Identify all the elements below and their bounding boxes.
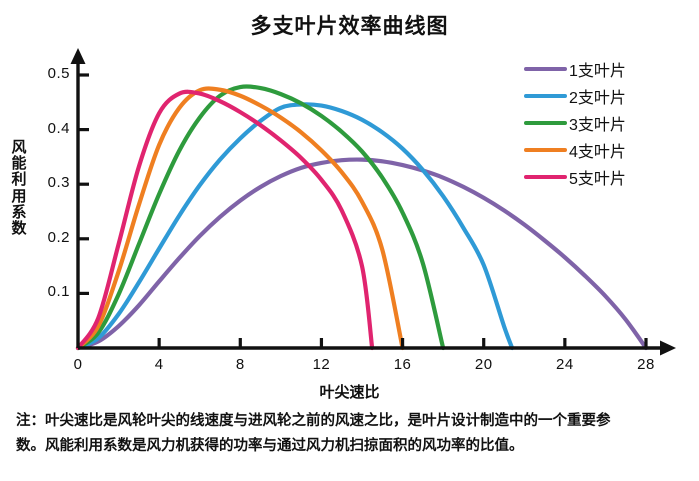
x-tick-label: 28 bbox=[631, 356, 661, 373]
y-tick-label: 0.4 bbox=[26, 120, 70, 137]
y-axis-title-char: 数 bbox=[8, 221, 30, 237]
footnote-line-1: 注：叶尖速比是风轮叶尖的线速度与进风轮之前的风速之比，是叶片设计制造中的一个重要… bbox=[16, 409, 688, 434]
footnote-line-2: 数。风能利用系数是风力机获得的功率与通过风力机扫掠面积的风功率的比值。 bbox=[16, 434, 688, 459]
y-tick-label: 0.3 bbox=[26, 174, 70, 191]
y-tick-label: 0.5 bbox=[26, 65, 70, 82]
legend-swatch-icon bbox=[524, 121, 567, 125]
legend-label: 5支叶片 bbox=[569, 165, 626, 189]
y-axis-title-char: 能 bbox=[8, 156, 30, 172]
legend-swatch-icon bbox=[524, 148, 567, 152]
x-tick-label: 12 bbox=[306, 356, 336, 373]
legend-item-1支叶片[interactable]: 1支叶片 bbox=[524, 55, 626, 82]
x-tick-label: 0 bbox=[63, 356, 93, 373]
legend-label: 2支叶片 bbox=[569, 84, 626, 108]
legend-swatch-icon bbox=[524, 175, 567, 179]
chart-page: 多支叶片效率曲线图 0.10.20.30.40.5 0481216202428 … bbox=[0, 0, 699, 481]
footnote: 注：叶尖速比是风轮叶尖的线速度与进风轮之前的风速之比，是叶片设计制造中的一个重要… bbox=[16, 409, 688, 460]
legend-item-5支叶片[interactable]: 5支叶片 bbox=[524, 163, 626, 190]
x-axis-title: 叶尖速比 bbox=[0, 381, 699, 402]
x-tick-label: 8 bbox=[225, 356, 255, 373]
legend-swatch-icon bbox=[524, 67, 567, 71]
y-axis-title-char: 系 bbox=[8, 205, 30, 221]
legend-item-2支叶片[interactable]: 2支叶片 bbox=[524, 82, 626, 109]
legend-label: 3支叶片 bbox=[569, 111, 626, 135]
y-axis-title-char: 用 bbox=[8, 189, 30, 205]
legend-label: 4支叶片 bbox=[569, 138, 626, 162]
legend-label: 1支叶片 bbox=[569, 57, 626, 81]
y-axis-title-char: 利 bbox=[8, 172, 30, 188]
x-tick-label: 20 bbox=[469, 356, 499, 373]
legend: 1支叶片2支叶片3支叶片4支叶片5支叶片 bbox=[524, 55, 626, 190]
curve-2支叶片 bbox=[78, 104, 512, 348]
x-tick-label: 24 bbox=[550, 356, 580, 373]
y-tick-label: 0.2 bbox=[26, 229, 70, 246]
x-tick-label: 16 bbox=[388, 356, 418, 373]
y-tick-label: 0.1 bbox=[26, 283, 70, 300]
legend-item-3支叶片[interactable]: 3支叶片 bbox=[524, 109, 626, 136]
legend-swatch-icon bbox=[524, 94, 567, 98]
legend-item-4支叶片[interactable]: 4支叶片 bbox=[524, 136, 626, 163]
y-axis-title-char: 风 bbox=[8, 140, 30, 156]
x-tick-label: 4 bbox=[144, 356, 174, 373]
y-axis-title: 风能利用系数 bbox=[8, 140, 30, 237]
